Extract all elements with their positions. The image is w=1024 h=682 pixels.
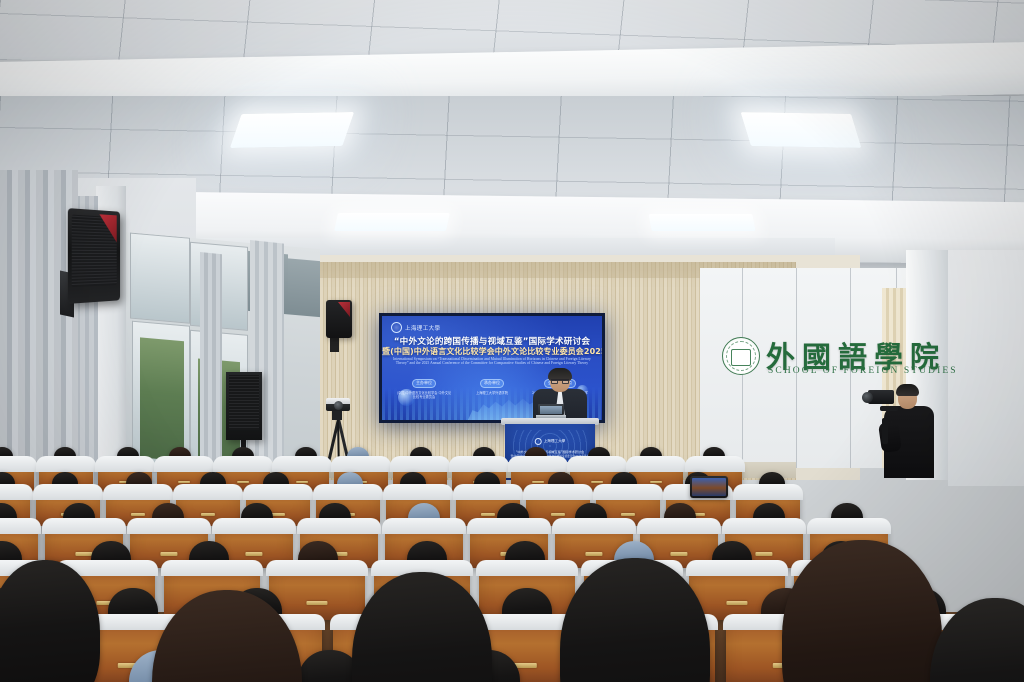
stage-loudspeaker: [326, 300, 352, 338]
seat-frame: [154, 456, 214, 472]
screen-logo-text: 上海理工大學: [405, 324, 440, 332]
seat-frame: [508, 456, 568, 472]
wall-sign-school-of-foreign-studies: 外國語學院 SCHOOL OF FOREIGN STUDIES: [722, 336, 908, 378]
screen-info-box: 承办单位 上海理工大学外语学院: [464, 371, 520, 399]
eyeglasses-icon: [551, 379, 569, 384]
seat-frame: [807, 518, 891, 534]
ceiling-light-panel-icon: [741, 112, 862, 148]
seat-frame: [272, 456, 332, 472]
seat-frame: [685, 456, 745, 472]
seat-frame: [331, 456, 391, 472]
screen-info-box-header: 承办单位: [480, 379, 504, 388]
screen-info-box-header: 主办单位: [412, 379, 436, 388]
seat-frame: [213, 456, 273, 472]
seat-frame: [733, 484, 803, 500]
screen-info-box-body: (中国)中外语言文化比较学会 中外文论比较专业委员会: [396, 391, 452, 399]
lecture-hall-photo: 外國語學院 SCHOOL OF FOREIGN STUDIES 上海理工大學 “…: [0, 0, 1024, 682]
audience-smartphone: [690, 476, 728, 498]
seat-frame: [567, 456, 627, 472]
smartphone-screen: [692, 478, 726, 496]
screen-subtitle-english: International Symposium on “Transnationa…: [392, 357, 592, 366]
seat-frame: [95, 456, 155, 472]
floor-loudspeaker: [226, 372, 262, 440]
seat-frame: [127, 518, 211, 534]
ceiling-light-panel-icon: [334, 213, 450, 231]
seat-frame: [161, 560, 263, 576]
screen-info-box: 主办单位 (中国)中外语言文化比较学会 中外文论比较专业委员会: [396, 371, 452, 399]
seat-frame: [243, 484, 313, 500]
screen-info-box-body: 上海理工大学外语学院: [464, 391, 520, 395]
seat-frame: [453, 484, 523, 500]
seat-frame: [212, 518, 296, 534]
foreground-audience-head: [352, 572, 492, 682]
ceiling-light-panel-icon: [230, 112, 354, 148]
tripod-head: [332, 411, 342, 420]
videographer-hair: [896, 384, 919, 396]
auditorium-seat: [269, 562, 365, 620]
seat-frame: [449, 456, 509, 472]
seat-frame: [390, 456, 450, 472]
seat-frame: [36, 456, 96, 472]
seat-frame: [173, 484, 243, 500]
seat-frame: [266, 560, 368, 576]
seat-frame: [297, 518, 381, 534]
seat-frame: [0, 518, 41, 534]
seat-frame: [313, 484, 383, 500]
seat-frame: [686, 560, 788, 576]
seat-frame: [0, 484, 33, 500]
seat-frame: [637, 518, 721, 534]
seat-frame: [0, 456, 37, 472]
seat-frame: [552, 518, 636, 534]
foreground-audience-head: [560, 558, 710, 682]
seat-frame: [476, 560, 578, 576]
seat-frame: [383, 484, 453, 500]
university-seal-icon: [391, 322, 402, 333]
school-crest-emblem-icon: [722, 337, 760, 375]
wall-mounted-loudspeaker: [68, 208, 120, 304]
seat-frame: [103, 484, 173, 500]
seat-frame: [626, 456, 686, 472]
seat-frame: [382, 518, 466, 534]
screen-title-line-2: 暨(中国)中外语言文化比较学会中外文论比较专业委员会2025年年会: [382, 346, 602, 357]
wall-sign-english-text: SCHOOL OF FOREIGN STUDIES: [768, 366, 958, 376]
seat-frame: [722, 518, 806, 534]
camera-lens-icon: [862, 392, 873, 403]
audience-seating-area: [0, 440, 1024, 682]
speaker-mount-bracket: [330, 336, 339, 352]
seat-frame: [467, 518, 551, 534]
ceiling-light-panel-icon: [648, 214, 755, 231]
laptop-on-podium: [536, 404, 566, 418]
seat-frame: [42, 518, 126, 534]
camera-lens-icon: [334, 401, 343, 410]
seat-frame: [593, 484, 663, 500]
screen-university-logo: 上海理工大學: [391, 322, 440, 333]
seat-frame: [523, 484, 593, 500]
gimbal-arm-icon: [880, 406, 898, 411]
seat-frame: [33, 484, 103, 500]
